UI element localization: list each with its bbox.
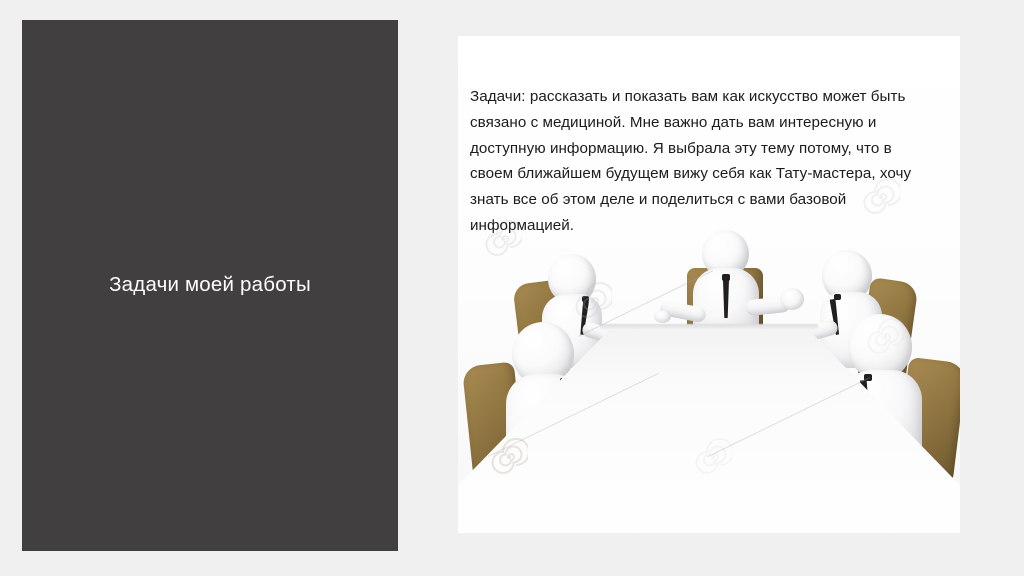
person-left-hand [654, 310, 671, 323]
content-panel: Задачи: рассказать и показать вам как ис… [458, 36, 960, 533]
presentation-slide: Задачи моей работы [0, 0, 1024, 576]
page-title: Задачи моей работы [91, 272, 329, 299]
person-right-hand [780, 288, 804, 310]
table-far-edge [600, 324, 818, 330]
necktie-knot [722, 274, 730, 281]
title-panel: Задачи моей работы [22, 20, 398, 551]
body-paragraph: Задачи: рассказать и показать вам как ис… [470, 84, 938, 239]
